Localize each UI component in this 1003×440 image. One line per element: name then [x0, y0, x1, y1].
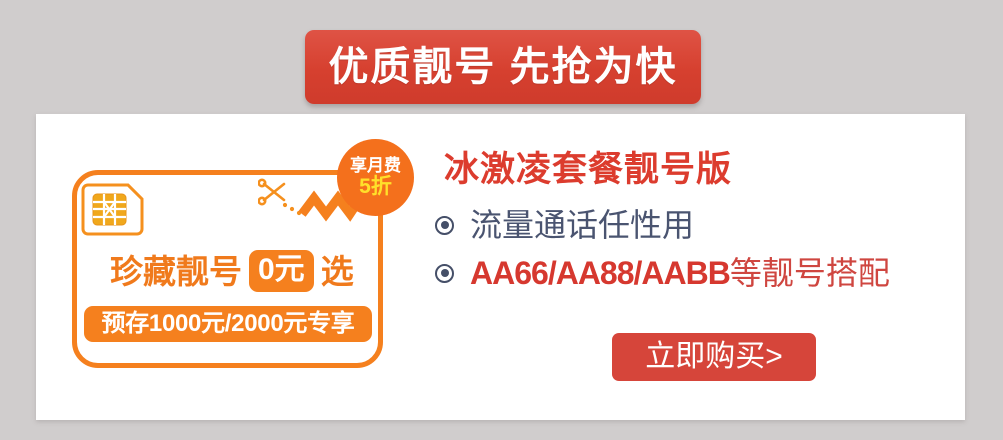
header-banner: 优质靓号 先抢为快 [305, 30, 701, 104]
feature-item-2-highlight: AA66/AA88/AABB [470, 257, 730, 289]
discount-badge-line2: 5折 [359, 175, 392, 198]
sim-headline-suffix: 选 [321, 255, 354, 288]
discount-badge: 享月费 5折 [337, 139, 414, 216]
buy-now-button[interactable]: 立即购买> [612, 333, 816, 381]
header-banner-title: 优质靓号 先抢为快 [328, 47, 677, 87]
feature-item-1-label: 流量通话任性用 [470, 209, 694, 241]
radio-bullet-icon [435, 216, 454, 235]
sim-chip-icon [80, 183, 152, 237]
feature-item-1: 流量通话任性用 [435, 209, 694, 241]
sim-headline-prefix: 珍藏靓号 [110, 255, 242, 288]
sim-prepay-bar: 预存1000元/2000元专享 [84, 306, 372, 342]
sim-prepay-bar-text: 预存1000元/2000元专享 [102, 312, 355, 336]
buy-now-button-label: 立即购买> [645, 342, 783, 372]
sim-headline-price-pill: 0元 [249, 250, 314, 292]
feature-item-2-label: 等靓号搭配 [730, 257, 890, 289]
offer-title: 冰激凌套餐靓号版 [444, 152, 732, 187]
radio-bullet-icon [435, 264, 454, 283]
discount-badge-line1: 享月费 [350, 157, 401, 175]
sim-headline: 珍藏靓号 0元 选 [110, 250, 354, 292]
feature-item-2: AA66/AA88/AABB 等靓号搭配 [435, 257, 890, 289]
